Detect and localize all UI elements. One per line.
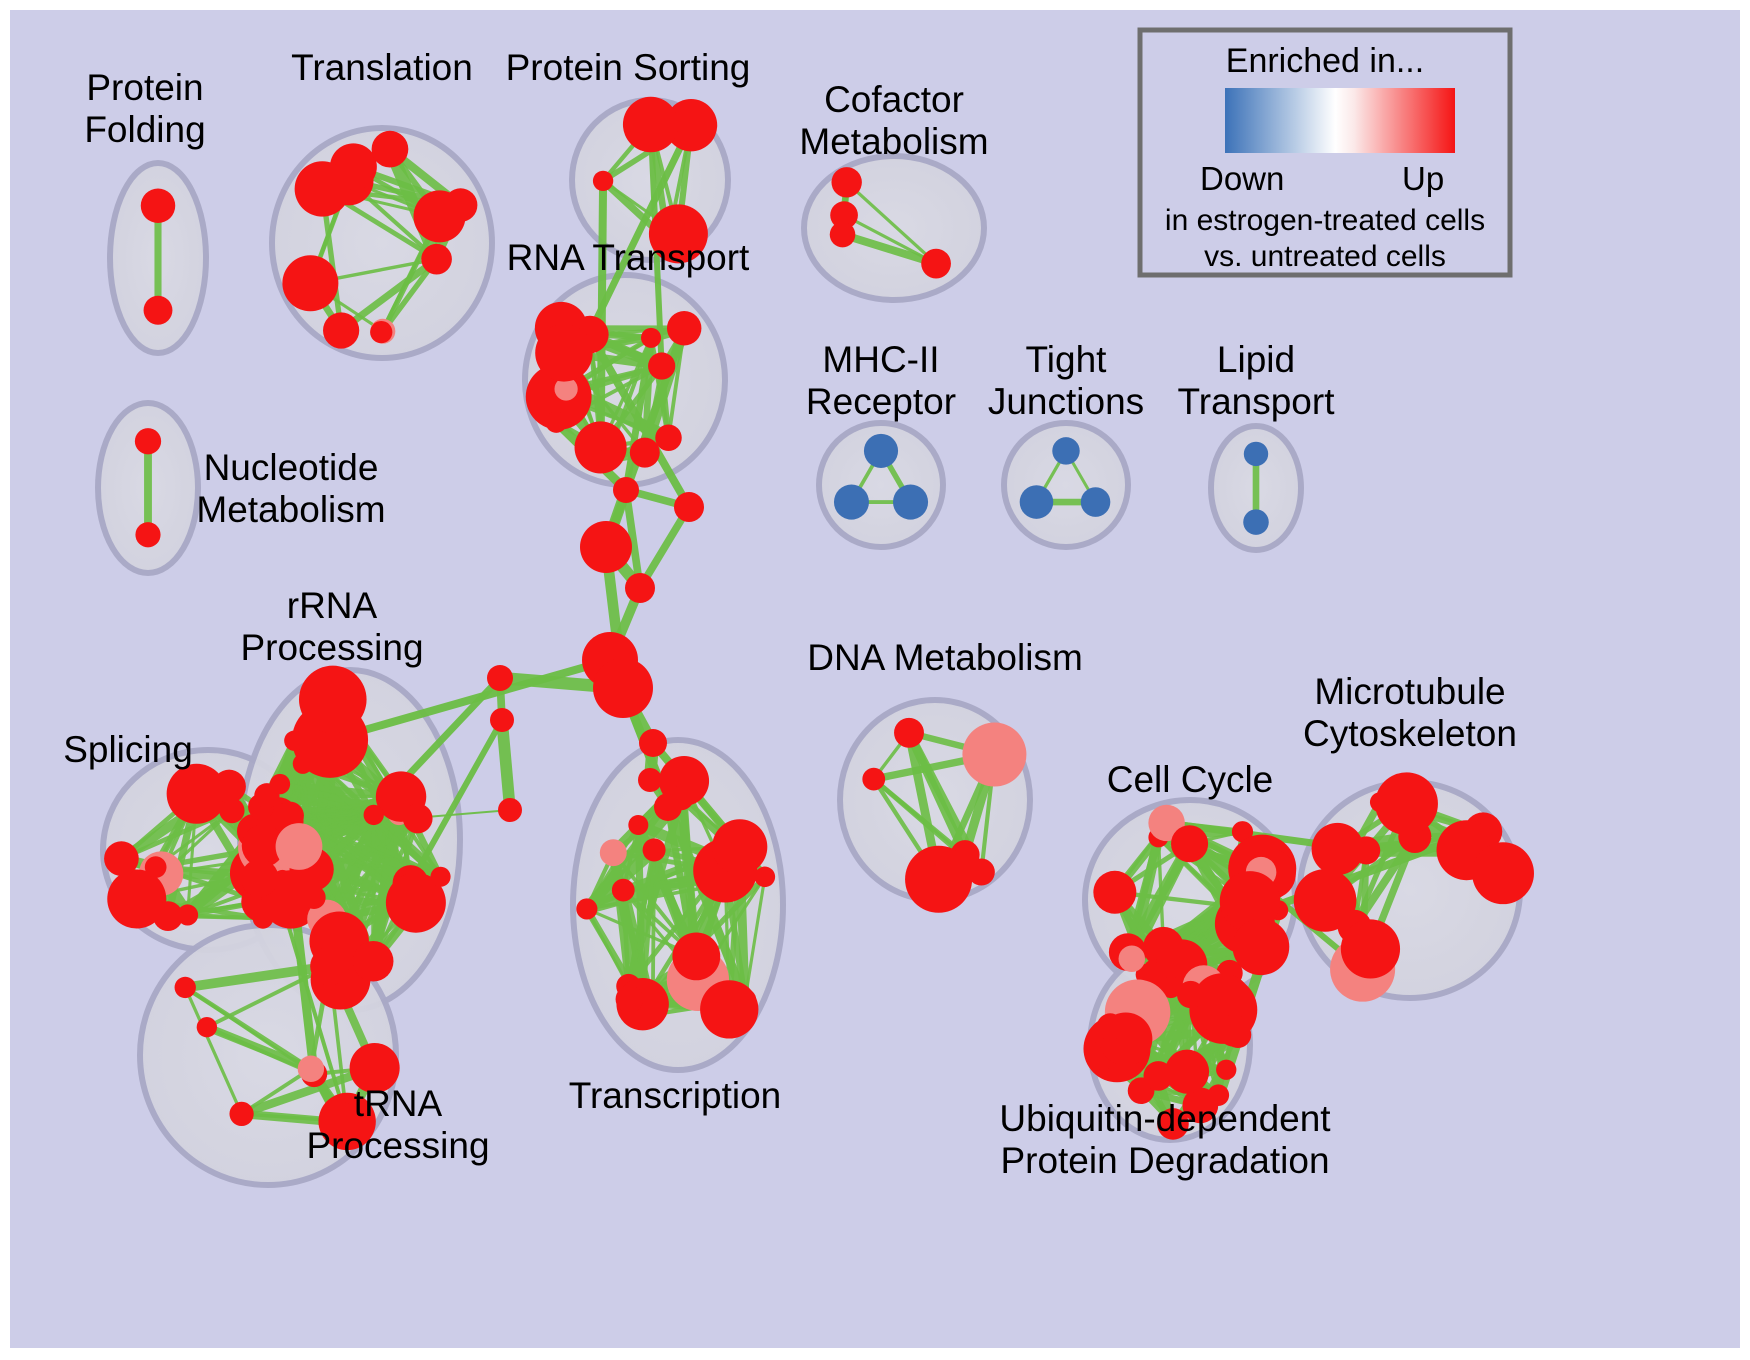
network-node[interactable] xyxy=(104,841,139,876)
network-node[interactable] xyxy=(612,879,635,902)
network-node[interactable] xyxy=(831,167,861,197)
network-node[interactable] xyxy=(613,477,639,503)
network-node[interactable] xyxy=(616,985,644,1013)
network-node[interactable] xyxy=(353,941,394,982)
network-node[interactable] xyxy=(144,296,173,325)
network-node[interactable] xyxy=(1218,1015,1250,1047)
network-node[interactable] xyxy=(712,819,767,874)
network-node[interactable] xyxy=(672,932,720,980)
network-node[interactable] xyxy=(597,449,617,469)
network-node[interactable] xyxy=(197,1017,217,1037)
cluster-label-protein-folding: ProteinFolding xyxy=(84,67,205,150)
network-node[interactable] xyxy=(490,708,514,732)
network-node[interactable] xyxy=(1312,823,1364,875)
network-node[interactable] xyxy=(593,171,613,191)
legend-subtitle-line1: in estrogen-treated cells xyxy=(1165,204,1485,237)
network-node[interactable] xyxy=(625,573,655,603)
network-node[interactable] xyxy=(310,947,348,985)
legend-title: Enriched in... xyxy=(1226,42,1424,80)
cluster-label-microtubule-cytoskeleton: MicrotubuleCytoskeleton xyxy=(1303,671,1517,754)
cluster-label-mhc-ii-receptor: MHC-IIReceptor xyxy=(806,339,956,422)
network-node[interactable] xyxy=(1171,825,1208,862)
legend-colorbar xyxy=(1225,88,1455,153)
cluster-label-translation: Translation xyxy=(291,47,473,88)
network-node[interactable] xyxy=(580,521,632,573)
network-node[interactable] xyxy=(282,255,338,311)
network-node[interactable] xyxy=(270,774,290,794)
network-node[interactable] xyxy=(1472,842,1534,904)
network-node[interactable] xyxy=(639,729,667,757)
network-node[interactable] xyxy=(630,438,660,468)
network-node[interactable] xyxy=(893,485,928,520)
network-node[interactable] xyxy=(302,886,325,909)
legend-right-label: Up xyxy=(1402,160,1444,197)
cluster-label-lipid-transport: LipidTransport xyxy=(1178,339,1336,422)
network-node[interactable] xyxy=(700,980,758,1038)
cluster-label-rna-transport: RNA Transport xyxy=(507,237,750,278)
network-node[interactable] xyxy=(921,249,951,279)
network-node[interactable] xyxy=(135,428,161,454)
network-node[interactable] xyxy=(1119,946,1146,973)
network-node[interactable] xyxy=(546,411,567,432)
network-node[interactable] xyxy=(1216,1060,1236,1080)
network-node[interactable] xyxy=(1243,509,1269,535)
network-node[interactable] xyxy=(834,485,869,520)
network-edge xyxy=(502,720,510,810)
network-node[interactable] xyxy=(293,754,313,774)
network-node[interactable] xyxy=(864,434,898,468)
cluster-label-cell-cycle: Cell Cycle xyxy=(1107,759,1274,800)
network-node[interactable] xyxy=(498,798,522,822)
network-node[interactable] xyxy=(674,492,704,522)
network-node[interactable] xyxy=(1233,918,1290,975)
network-node[interactable] xyxy=(145,856,167,878)
legend-subtitle-line2: vs. untreated cells xyxy=(1204,240,1446,273)
network-node[interactable] xyxy=(364,805,384,825)
network-node[interactable] xyxy=(430,867,450,887)
network-node[interactable] xyxy=(667,311,701,345)
network-node[interactable] xyxy=(1144,1061,1174,1091)
network-node[interactable] xyxy=(135,522,160,547)
network-node[interactable] xyxy=(623,97,678,152)
network-node[interactable] xyxy=(141,189,175,223)
network-node[interactable] xyxy=(444,188,478,222)
cluster-label-cofactor-metabolism: CofactorMetabolism xyxy=(799,79,988,162)
network-node[interactable] xyxy=(641,328,661,348)
network-node[interactable] xyxy=(648,352,675,379)
network-node[interactable] xyxy=(905,846,972,913)
network-node[interactable] xyxy=(894,718,924,748)
network-node[interactable] xyxy=(370,321,392,343)
network-node[interactable] xyxy=(323,312,359,348)
network-node[interactable] xyxy=(241,859,279,897)
network-node[interactable] xyxy=(643,838,666,861)
network-node[interactable] xyxy=(600,839,627,866)
network-node[interactable] xyxy=(212,770,246,804)
network-node[interactable] xyxy=(593,658,653,718)
cluster-label-ubiquitin-protein-degradation: Ubiquitin-dependentProtein Degradation xyxy=(999,1098,1331,1181)
figure-stage: ProteinFoldingTranslationProtein Sorting… xyxy=(0,0,1750,1360)
network-node[interactable] xyxy=(1341,919,1400,978)
cluster-label-nucleotide-metabolism: NucleotideMetabolism xyxy=(196,447,385,530)
network-node[interactable] xyxy=(298,1056,324,1082)
network-graph[interactable]: ProteinFoldingTranslationProtein Sorting… xyxy=(10,10,1740,1348)
network-node[interactable] xyxy=(535,324,592,381)
network-node[interactable] xyxy=(284,731,304,751)
network-node[interactable] xyxy=(1375,772,1438,835)
network-node[interactable] xyxy=(1093,871,1136,914)
network-node[interactable] xyxy=(1177,981,1204,1008)
network-node[interactable] xyxy=(962,723,1026,787)
network-node[interactable] xyxy=(229,1102,253,1126)
legend-box: Enriched in... Down Up in estrogen-treat… xyxy=(1140,30,1510,275)
cluster-label-splicing: Splicing xyxy=(63,729,193,770)
network-node[interactable] xyxy=(1052,437,1079,464)
cluster-label-transcription: Transcription xyxy=(569,1075,781,1116)
network-node[interactable] xyxy=(295,161,350,216)
cluster-hull-cofactor-metabolism xyxy=(804,156,984,300)
network-node[interactable] xyxy=(257,814,277,834)
network-node[interactable] xyxy=(654,793,682,821)
cluster-label-rrna-processing: rRNAProcessing xyxy=(240,585,423,668)
network-node[interactable] xyxy=(1097,1013,1124,1040)
network-node[interactable] xyxy=(830,222,856,248)
network-node[interactable] xyxy=(487,665,513,691)
network-node[interactable] xyxy=(1081,487,1111,517)
cluster-label-dna-metabolism: DNA Metabolism xyxy=(807,637,1083,678)
network-node[interactable] xyxy=(1020,485,1054,519)
network-node[interactable] xyxy=(421,244,452,275)
network-node[interactable] xyxy=(638,768,662,792)
network-node[interactable] xyxy=(175,977,196,998)
cluster-label-protein-sorting: Protein Sorting xyxy=(506,47,751,88)
network-node[interactable] xyxy=(1244,442,1268,466)
network-node[interactable] xyxy=(403,804,433,834)
network-node[interactable] xyxy=(862,768,885,791)
network-node[interactable] xyxy=(153,901,183,931)
network-node[interactable] xyxy=(576,898,597,919)
network-node[interactable] xyxy=(299,666,367,734)
network-node[interactable] xyxy=(655,425,682,452)
network-node[interactable] xyxy=(755,867,776,888)
network-figure-panel: ProteinFoldingTranslationProtein Sorting… xyxy=(10,10,1740,1348)
network-node[interactable] xyxy=(1220,896,1240,916)
legend-left-label: Down xyxy=(1200,160,1284,197)
network-node[interactable] xyxy=(372,131,409,168)
network-node[interactable] xyxy=(628,815,648,835)
cluster-label-tight-junctions: TightJunctions xyxy=(988,339,1144,422)
network-node[interactable] xyxy=(276,823,323,870)
